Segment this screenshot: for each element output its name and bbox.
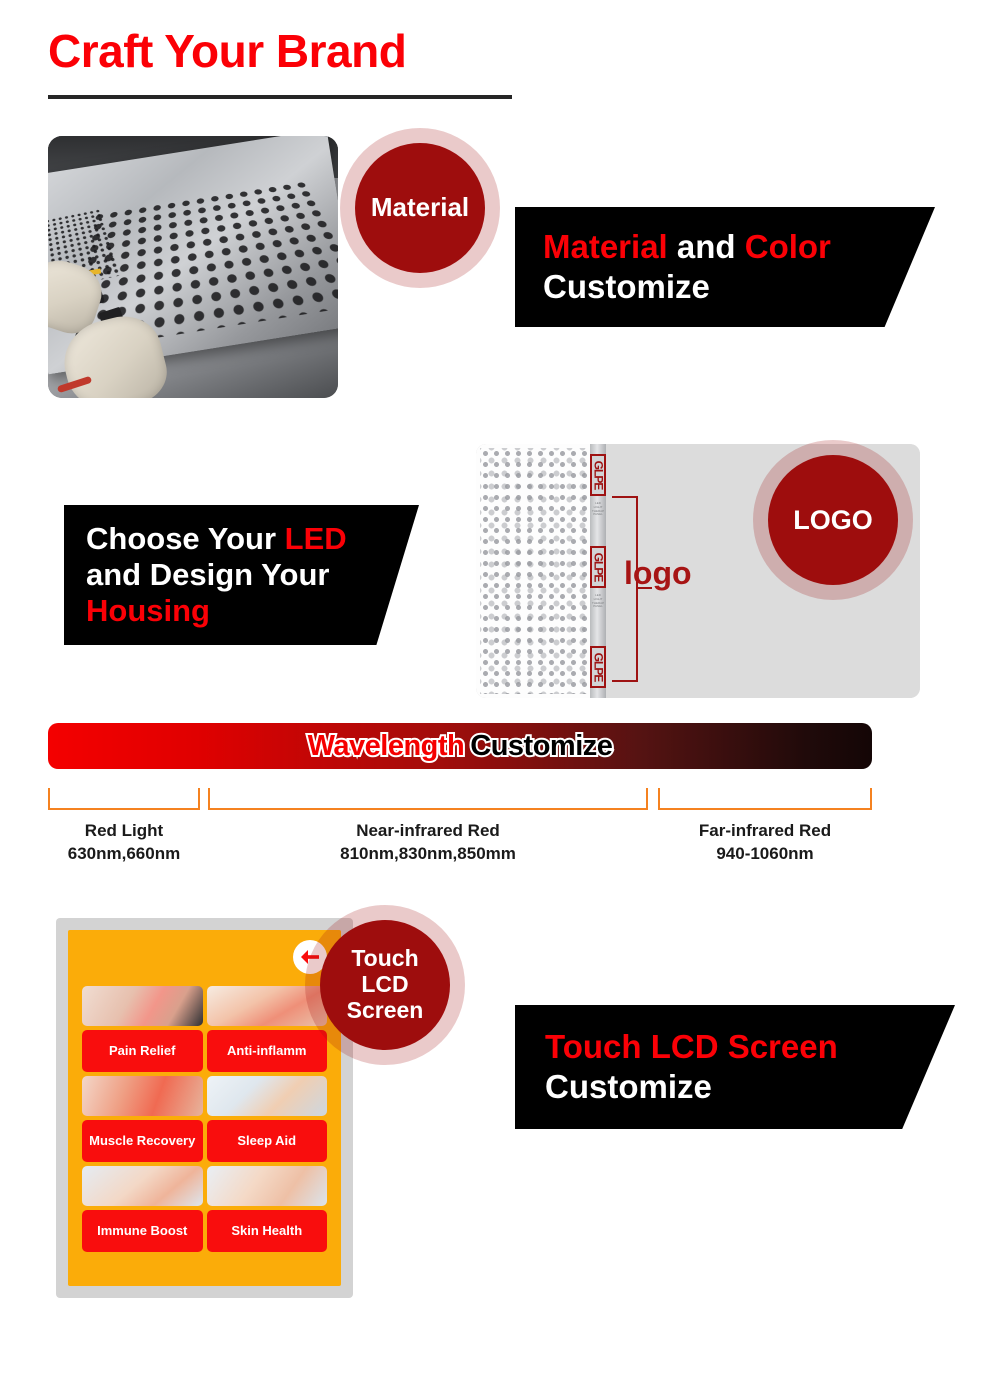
wavelength-bracket-3 bbox=[658, 788, 872, 810]
material-banner-word-and: and bbox=[668, 228, 745, 265]
title-divider bbox=[48, 95, 512, 99]
tile-label-pain-relief[interactable]: Pain Relief bbox=[82, 1030, 203, 1072]
logo-badge-circle: LOGO bbox=[768, 455, 898, 585]
tile-thumbnail[interactable] bbox=[207, 1076, 328, 1116]
wavelength-name-1: Red Light bbox=[34, 820, 214, 843]
led-banner-line3: Housing bbox=[86, 593, 419, 629]
touch-lcd-banner-line2: Customize bbox=[545, 1068, 955, 1106]
led-banner-text-choose: Choose Your bbox=[86, 521, 285, 556]
tile-thumbnail[interactable] bbox=[82, 986, 203, 1026]
panel-led-dots-secondary bbox=[480, 448, 588, 694]
tile-label-immune-boost[interactable]: Immune Boost bbox=[82, 1210, 203, 1252]
wavelength-title: WavelengthCustomize bbox=[308, 730, 613, 763]
wavelength-label-3: Far-infrared Red 940-1060nm bbox=[655, 820, 875, 866]
material-banner-line1: Material and Color bbox=[543, 228, 935, 266]
wavelength-values-3: 940-1060nm bbox=[655, 843, 875, 866]
wavelength-bracket-2 bbox=[208, 788, 648, 810]
logo-mark-top: GLPE bbox=[590, 454, 606, 496]
wavelength-name-2: Near-infrared Red bbox=[288, 820, 568, 843]
wavelength-label-2: Near-infrared Red 810nm,830nm,850mm bbox=[288, 820, 568, 866]
led-banner-word-led: LED bbox=[285, 521, 347, 556]
led-banner: Choose Your LED and Design Your Housing bbox=[64, 505, 419, 645]
wavelength-values-2: 810nm,830nm,850mm bbox=[288, 843, 568, 866]
material-banner-word-material: Material bbox=[543, 228, 668, 265]
panel-perforated-area bbox=[476, 444, 590, 698]
logo-mark-text: GLPE bbox=[591, 553, 605, 582]
wavelength-bracket-1 bbox=[48, 788, 200, 810]
material-badge: Material bbox=[340, 128, 500, 288]
material-banner: Material and Color Customize bbox=[515, 207, 935, 327]
led-banner-line1: Choose Your LED bbox=[86, 521, 419, 557]
material-badge-circle: Material bbox=[355, 143, 485, 273]
logo-mark-middle: GLPE bbox=[590, 546, 606, 588]
touch-lcd-badge-line3: Screen bbox=[347, 998, 424, 1024]
therapy-mode-grid: Pain Relief Anti-inflamm Muscle Recovery… bbox=[82, 986, 327, 1252]
touch-lcd-badge-line1: Touch bbox=[351, 946, 418, 972]
wavelength-values-1: 630nm,660nm bbox=[34, 843, 214, 866]
tile-label-muscle-recovery[interactable]: Muscle Recovery bbox=[82, 1120, 203, 1162]
wavelength-label-1: Red Light 630nm,660nm bbox=[34, 820, 214, 866]
logo-caption: logo bbox=[624, 555, 692, 592]
touch-lcd-banner-line1: Touch LCD Screen bbox=[545, 1028, 955, 1066]
tile-thumbnail[interactable] bbox=[82, 1076, 203, 1116]
touch-lcd-badge: Touch LCD Screen bbox=[305, 905, 465, 1065]
page-title: Craft Your Brand bbox=[48, 24, 406, 78]
logo-badge-label: LOGO bbox=[793, 505, 873, 535]
material-badge-label: Material bbox=[371, 193, 469, 222]
logo-mark-bottom: GLPE bbox=[590, 646, 606, 688]
wavelength-bar: WavelengthCustomize bbox=[48, 723, 872, 769]
material-photo bbox=[48, 136, 338, 398]
logo-mark-text: GLPE bbox=[591, 461, 605, 490]
wavelength-name-3: Far-infrared Red bbox=[655, 820, 875, 843]
tile-label-sleep-aid[interactable]: Sleep Aid bbox=[207, 1120, 328, 1162]
tile-label-skin-health[interactable]: Skin Health bbox=[207, 1210, 328, 1252]
wavelength-title-word1: Wavelength bbox=[308, 730, 465, 762]
lcd-screen[interactable]: Pain Relief Anti-inflamm Muscle Recovery… bbox=[68, 930, 341, 1286]
touch-lcd-banner: Touch LCD Screen Customize bbox=[515, 1005, 955, 1129]
touch-lcd-badge-line2: LCD bbox=[361, 972, 408, 998]
logo-mark-text: GLPE bbox=[591, 653, 605, 682]
touch-lcd-badge-circle: Touch LCD Screen bbox=[320, 920, 450, 1050]
wavelength-title-word2: Customize bbox=[470, 730, 612, 762]
infographic-page: Craft Your Brand Material Material and C… bbox=[0, 0, 1000, 1376]
strip-print-text: LED LIGHT THERAPY PANEL bbox=[592, 594, 604, 609]
led-banner-line2: and Design Your bbox=[86, 557, 419, 593]
logo-badge: LOGO bbox=[753, 440, 913, 600]
tile-thumbnail[interactable] bbox=[207, 1166, 328, 1206]
material-banner-line2: Customize bbox=[543, 268, 935, 306]
tile-thumbnail[interactable] bbox=[82, 1166, 203, 1206]
material-banner-word-color: Color bbox=[745, 228, 831, 265]
strip-print-text: LED LIGHT THERAPY PANEL bbox=[592, 502, 604, 517]
